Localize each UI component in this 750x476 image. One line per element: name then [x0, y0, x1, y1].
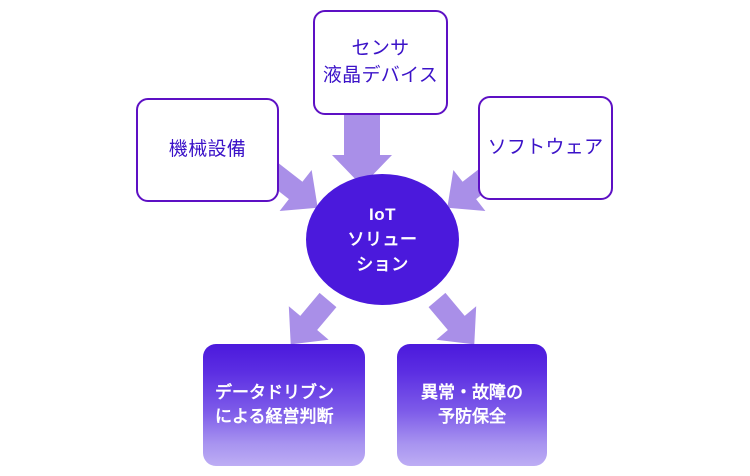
- input-box-machine[interactable]: 機械設備: [136, 98, 279, 202]
- input-box-sensor-label: センサ 液晶デバイス: [323, 36, 438, 90]
- core-circle-iot-solution[interactable]: IoT ソリュー ション: [306, 174, 459, 305]
- core-circle-line-1: IoT: [369, 206, 396, 223]
- outcome-box-preventive-maintenance-label: 異常・故障の 予防保全: [397, 381, 547, 429]
- core-circle-line-3: ション: [356, 256, 409, 273]
- input-box-software[interactable]: ソフトウェア: [478, 96, 613, 200]
- outcome-box-preventive-maintenance[interactable]: 異常・故障の 予防保全: [397, 344, 547, 466]
- input-box-software-label: ソフトウェア: [488, 135, 604, 162]
- core-circle-line-2: ソリュー: [348, 231, 418, 248]
- input-box-machine-label: 機械設備: [169, 137, 246, 164]
- outcome-box-data-driven-label: データドリブン による経営判断: [203, 381, 365, 429]
- input-box-sensor[interactable]: センサ 液晶デバイス: [313, 10, 448, 115]
- outcome-box-data-driven[interactable]: データドリブン による経営判断: [203, 344, 365, 466]
- iot-solution-diagram: センサ 液晶デバイス 機械設備 ソフトウェア IoT ソリュー ション データド…: [0, 0, 750, 476]
